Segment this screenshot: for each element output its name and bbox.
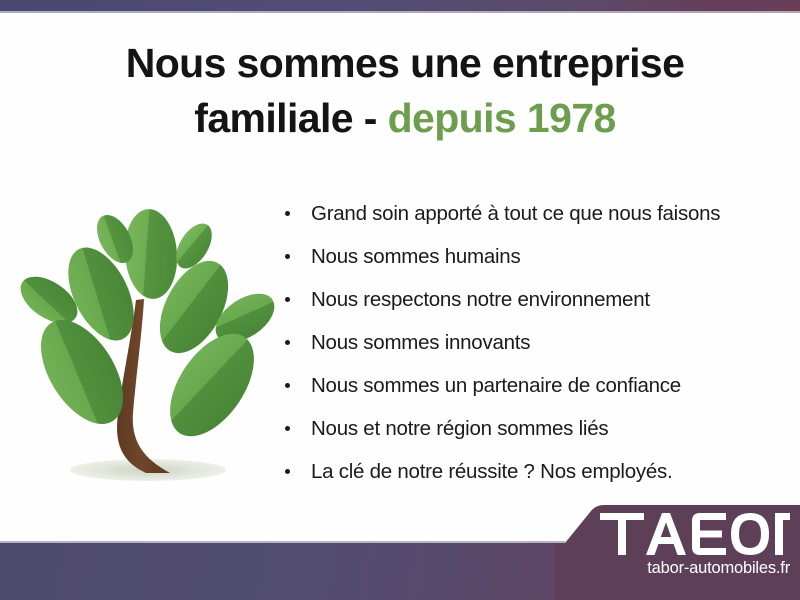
list-item: Nous sommes innovants (283, 321, 763, 364)
headline-line-2-plain: familiale - (194, 95, 377, 141)
headline-line-1: Nous sommes une entreprise (126, 40, 685, 86)
bullet-dot-icon (285, 211, 290, 216)
page-title: Nous sommes une entreprise familiale - d… (60, 36, 750, 145)
tabor-logo[interactable] (600, 513, 790, 555)
headline-line-2: familiale - depuis 1978 (60, 91, 750, 146)
bullet-dot-icon (285, 254, 290, 259)
bullet-dot-icon (285, 469, 290, 474)
list-item-label: Nous respectons notre environnement (311, 288, 650, 311)
bullet-dot-icon (285, 297, 290, 302)
list-item: Grand soin apporté à tout ce que nous fa… (283, 192, 763, 235)
bullet-dot-icon (285, 340, 290, 345)
logo-website-url[interactable]: tabor-automobiles.fr (600, 559, 790, 578)
list-item-label: La clé de notre réussite ? Nos employés. (311, 460, 672, 483)
list-item: Nous et notre région sommes liés (283, 407, 763, 450)
list-item-label: Nous sommes humains (311, 245, 520, 268)
slide-canvas: Nous sommes une entreprise familiale - d… (0, 0, 800, 600)
top-accent-hairline (0, 11, 800, 13)
top-accent-bar (0, 0, 800, 11)
list-item: La clé de notre réussite ? Nos employés. (283, 450, 763, 493)
tree-illustration (18, 182, 286, 494)
bullet-dot-icon (285, 426, 290, 431)
list-item-label: Nous sommes un partenaire de confiance (311, 374, 681, 397)
list-item-label: Grand soin apporté à tout ce que nous fa… (311, 202, 720, 225)
list-item: Nous respectons notre environnement (283, 278, 763, 321)
list-item: Nous sommes un partenaire de confiance (283, 364, 763, 407)
value-proposition-list: Grand soin apporté à tout ce que nous fa… (283, 192, 763, 493)
bullet-dot-icon (285, 383, 290, 388)
list-item: Nous sommes humains (283, 235, 763, 278)
list-item-label: Nous sommes innovants (311, 331, 530, 354)
list-item-label: Nous et notre région sommes liés (311, 417, 608, 440)
headline-line-2-accent: depuis 1978 (388, 95, 616, 141)
